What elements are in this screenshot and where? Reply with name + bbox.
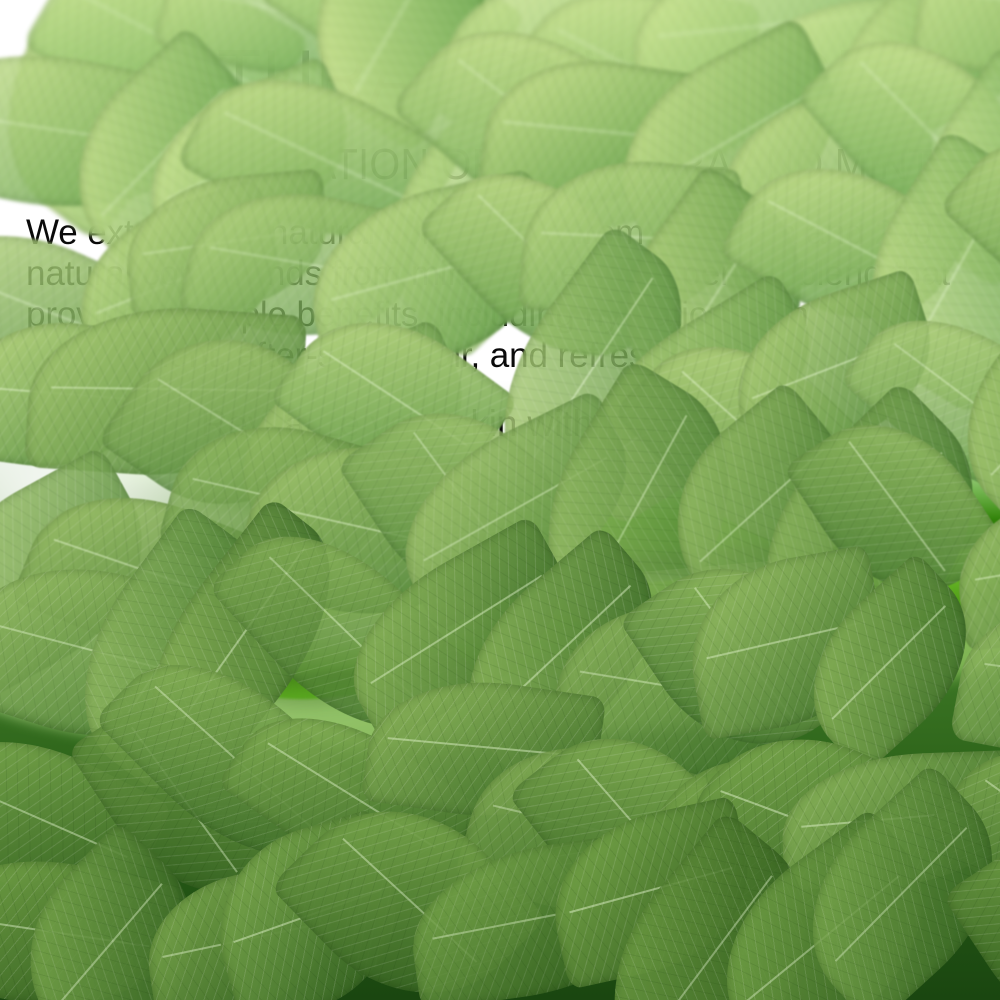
product-poster: NATURAL POWER OF THE INTEGRATION OF ALOE…	[0, 0, 1000, 1000]
hero-photo	[0, 0, 1000, 1000]
